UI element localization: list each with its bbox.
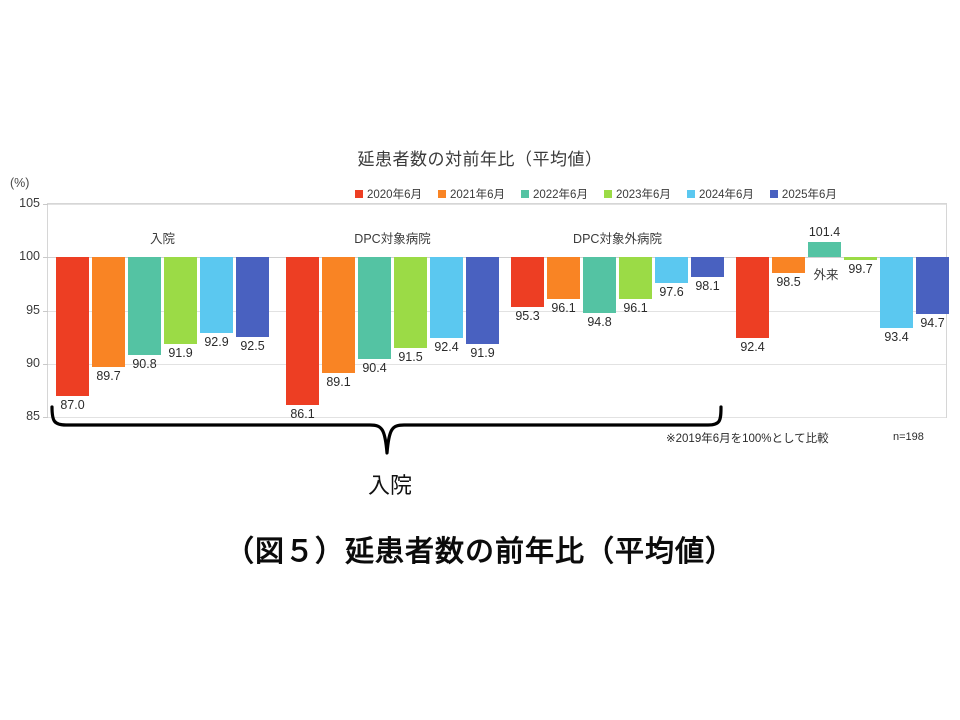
legend-item: 2023年6月: [604, 186, 671, 202]
bar-value-label: 93.4: [873, 331, 920, 344]
group-label: 入院: [56, 233, 269, 246]
bar[interactable]: [164, 257, 197, 343]
legend-item: 2021年6月: [438, 186, 505, 202]
legend-label: 2021年6月: [450, 186, 505, 202]
bar[interactable]: [844, 257, 877, 260]
y-tick-label: 85: [0, 410, 40, 423]
bar-value-label: 96.1: [540, 302, 587, 315]
bar[interactable]: [358, 257, 391, 359]
legend-swatch-2025-icon: [770, 190, 778, 198]
gridline: [48, 204, 946, 205]
y-tick-mark: [43, 311, 48, 312]
bar-value-label: 89.7: [85, 370, 132, 383]
sample-size-note: n=198: [893, 431, 924, 443]
legend-label: 2025年6月: [782, 186, 837, 202]
bar-value-label: 90.8: [121, 358, 168, 371]
chart-title: 延患者数の対前年比（平均値）: [0, 145, 960, 170]
legend-label: 2020年6月: [367, 186, 422, 202]
bar[interactable]: [322, 257, 355, 373]
legend-swatch-2020-icon: [355, 190, 363, 198]
figure-caption: （図５）延患者数の前年比（平均値）: [0, 528, 960, 570]
bar[interactable]: [236, 257, 269, 337]
y-axis-unit-label: (%): [10, 176, 29, 190]
bar-value-label: 96.1: [612, 302, 659, 315]
bar-value-label: 101.4: [801, 226, 848, 239]
legend-swatch-2022-icon: [521, 190, 529, 198]
group-label: DPC対象外病院: [511, 233, 724, 246]
bar[interactable]: [128, 257, 161, 355]
bar-value-label: 91.9: [459, 347, 506, 360]
legend-swatch-2023-icon: [604, 190, 612, 198]
gridline: [48, 364, 946, 365]
brace-label: 入院: [300, 468, 480, 500]
bar[interactable]: [511, 257, 544, 307]
legend-label: 2024年6月: [699, 186, 754, 202]
figure-container: 延患者数の対前年比（平均値） 2020年6月 2021年6月 2022年6月 2…: [0, 0, 960, 720]
bar-value-label: 98.1: [684, 280, 731, 293]
chart-legend: 2020年6月 2021年6月 2022年6月 2023年6月 2024年6月 …: [355, 186, 955, 202]
bar[interactable]: [916, 257, 949, 313]
bar[interactable]: [466, 257, 499, 343]
y-tick-label: 105: [0, 197, 40, 210]
legend-item: 2022年6月: [521, 186, 588, 202]
group-label: 外来: [804, 269, 848, 282]
group-label: DPC対象病院: [286, 233, 499, 246]
bar[interactable]: [394, 257, 427, 348]
bar[interactable]: [200, 257, 233, 333]
bar-value-label: 91.9: [157, 347, 204, 360]
bar[interactable]: [92, 257, 125, 367]
y-tick-label: 95: [0, 304, 40, 317]
bar[interactable]: [691, 257, 724, 277]
legend-swatch-2024-icon: [687, 190, 695, 198]
y-tick-mark: [43, 204, 48, 205]
legend-label: 2023年6月: [616, 186, 671, 202]
y-tick-mark: [43, 257, 48, 258]
inpatient-brace-icon: [40, 405, 730, 470]
bar-value-label: 92.4: [729, 341, 776, 354]
bar[interactable]: [772, 257, 805, 273]
plot-area: 87.089.790.891.992.992.586.189.190.491.5…: [47, 203, 947, 418]
bar-value-label: 89.1: [315, 376, 362, 389]
bar-value-label: 90.4: [351, 362, 398, 375]
y-tick-mark: [43, 364, 48, 365]
bar-value-label: 94.7: [909, 317, 956, 330]
bar-value-label: 94.8: [576, 316, 623, 329]
legend-item: 2024年6月: [687, 186, 754, 202]
legend-item: 2020年6月: [355, 186, 422, 202]
bar[interactable]: [655, 257, 688, 283]
bar-value-label: 92.5: [229, 340, 276, 353]
y-tick-label: 90: [0, 357, 40, 370]
legend-swatch-2021-icon: [438, 190, 446, 198]
bar[interactable]: [547, 257, 580, 299]
bar[interactable]: [736, 257, 769, 338]
y-tick-label: 100: [0, 250, 40, 263]
legend-label: 2022年6月: [533, 186, 588, 202]
legend-item: 2025年6月: [770, 186, 837, 202]
bar[interactable]: [808, 242, 841, 257]
bar[interactable]: [430, 257, 463, 338]
